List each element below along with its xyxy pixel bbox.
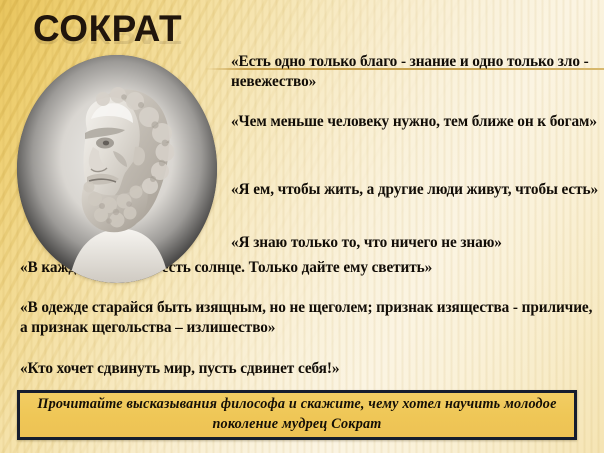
quote-text: «Чем меньше человеку нужно, тем ближе он…	[231, 112, 599, 132]
quote-text: «Я знаю только то, что ничего не знаю»	[231, 233, 599, 253]
task-instruction-text: Прочитайте высказывания философа и скажи…	[20, 395, 574, 434]
quote-text: «Я ем, чтобы жить, а другие люди живут, …	[231, 180, 599, 200]
quote-text: «В одежде старайся быть изящным, но не щ…	[20, 298, 598, 338]
socrates-portrait	[17, 55, 217, 283]
presentation-slide: СОКРАТ СОКРАТ	[0, 0, 604, 453]
quote-text: «Есть одно только благо - знание и одно …	[231, 52, 599, 92]
quote-text: «Кто хочет сдвинуть мир, пусть сдвинет с…	[20, 359, 598, 379]
socrates-bust-icon	[17, 55, 217, 283]
task-callout-box: Прочитайте высказывания философа и скажи…	[17, 390, 577, 440]
page-title: СОКРАТ	[33, 10, 363, 47]
